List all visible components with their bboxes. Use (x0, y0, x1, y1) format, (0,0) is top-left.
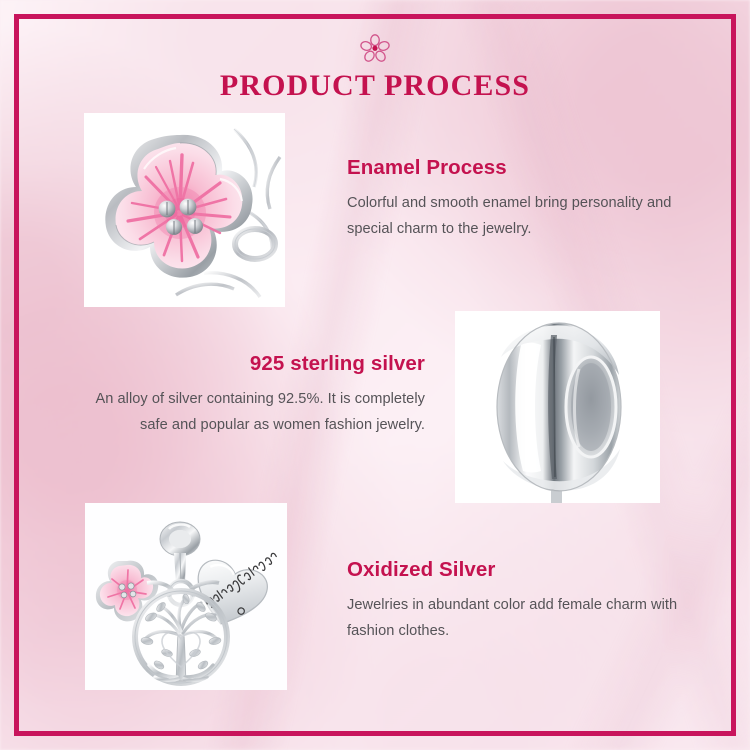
section-body-enamel-process: Colorful and smooth enamel bring persona… (347, 190, 707, 243)
product-process-poster: PRODUCT PROCESS (0, 0, 750, 750)
image-card-tree-of-life-dangle (85, 503, 287, 690)
section-body-oxidized-silver: Jewelries in abundant color add female c… (347, 592, 687, 645)
page-title: PRODUCT PROCESS (0, 69, 750, 102)
text-block-enamel-process: Enamel Process Colorful and smooth ename… (347, 156, 707, 243)
section-heading-sterling-silver: 925 sterling silver (95, 352, 425, 377)
tree-of-life-dangle-charm-image (85, 503, 287, 690)
poster-header: PRODUCT PROCESS (0, 33, 750, 102)
image-card-silver-bead (455, 311, 660, 503)
silver-spacer-bead-image (455, 311, 660, 503)
pink-enamel-flower-charm-image (84, 113, 285, 307)
text-block-oxidized-silver: Oxidized Silver Jewelries in abundant co… (347, 558, 687, 645)
section-heading-enamel-process: Enamel Process (347, 156, 707, 181)
section-heading-oxidized-silver: Oxidized Silver (347, 558, 687, 583)
cherry-blossom-icon (358, 33, 392, 63)
section-body-sterling-silver: An alloy of silver containing 92.5%. It … (95, 386, 425, 439)
image-card-enamel-flower (84, 113, 285, 307)
text-block-sterling-silver: 925 sterling silver An alloy of silver c… (95, 352, 425, 439)
